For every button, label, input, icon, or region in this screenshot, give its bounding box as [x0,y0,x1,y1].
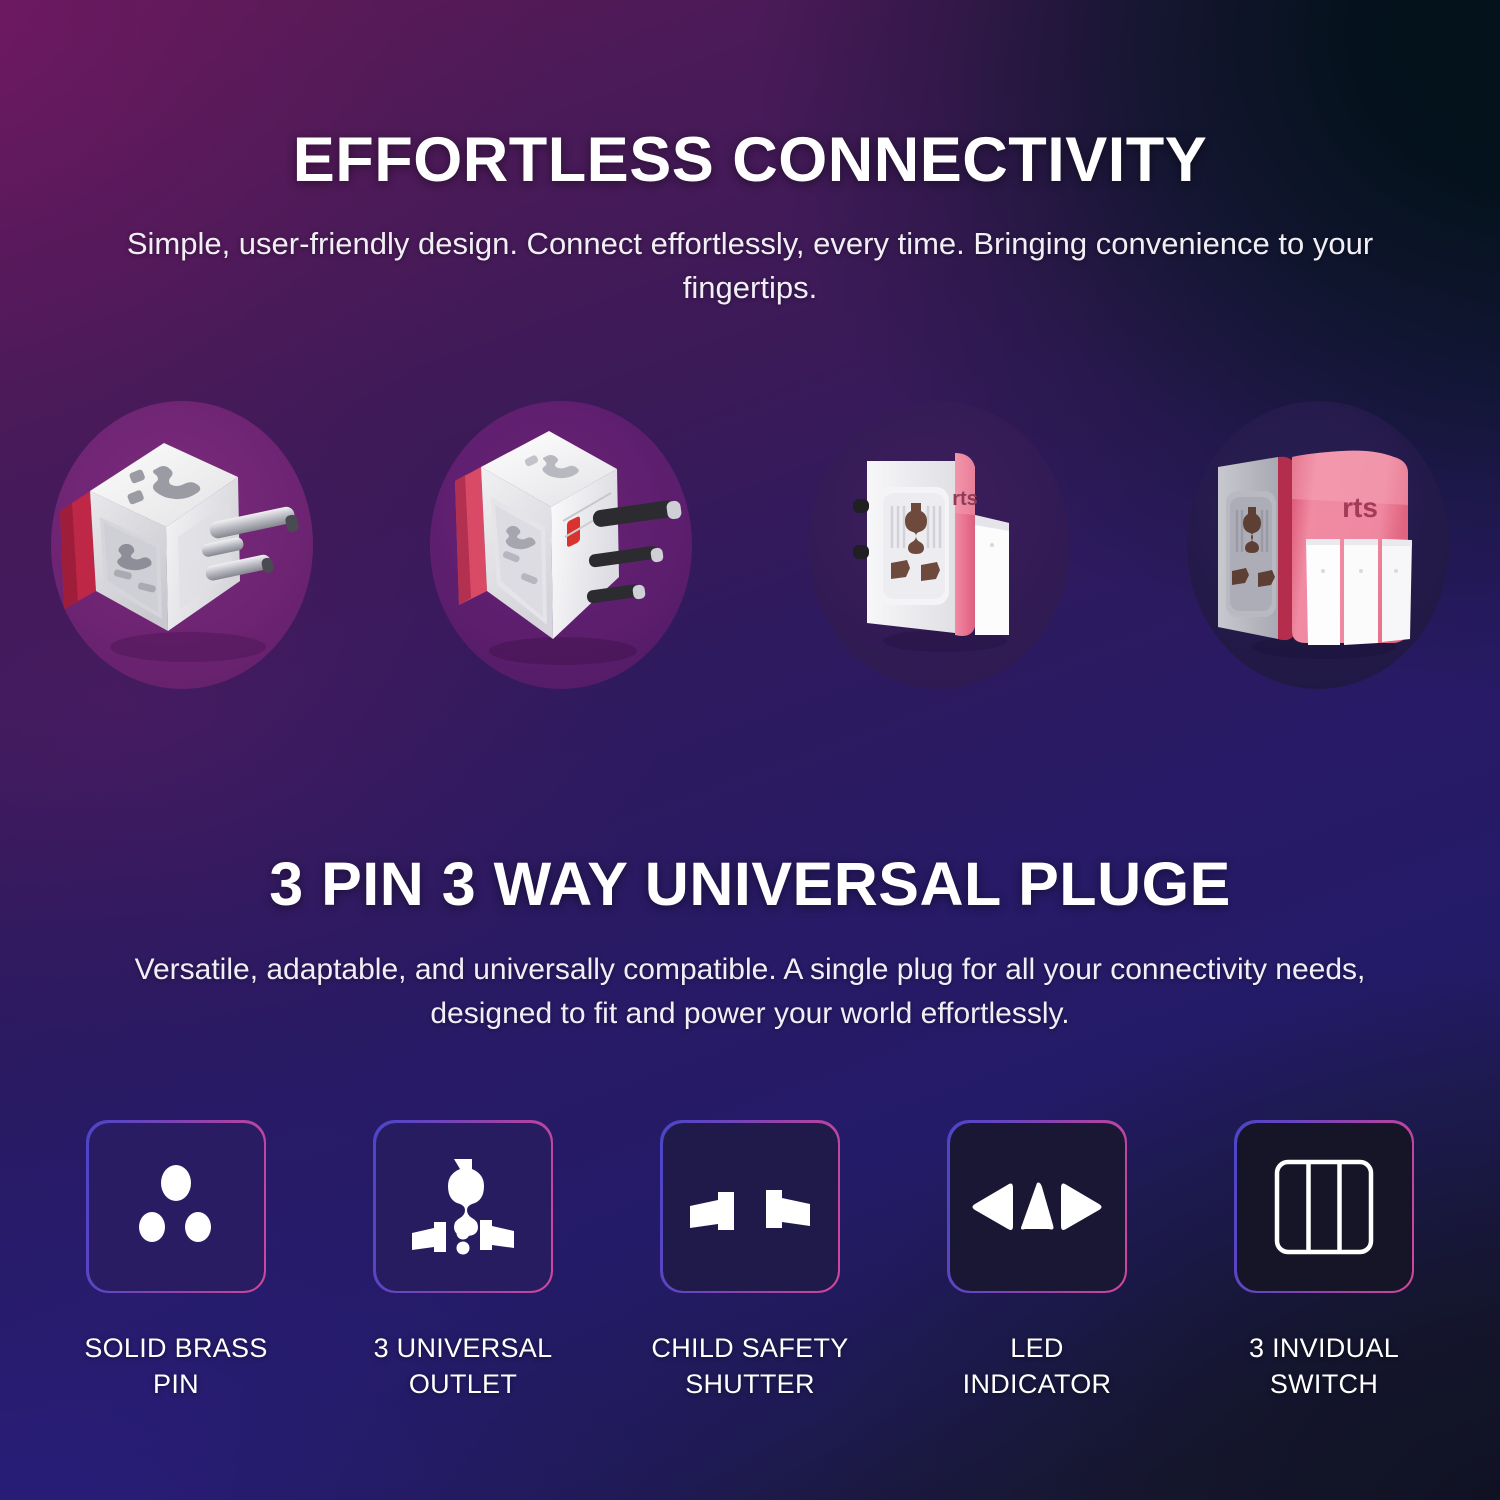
brand-logo-rts-3: rts [953,488,979,510]
universal-outlet-icon [404,1151,522,1263]
feature-item-child-safety-shutter[interactable]: CHILD SAFETY SHUTTER [626,1120,874,1450]
product-image-2 [417,395,705,695]
safety-shutter-icon [684,1172,816,1288]
product-card-1 [38,395,326,695]
feature-label-1: SOLID BRASS PIN [84,1331,267,1403]
feature-card-3 [660,1120,840,1293]
arrow-up-icon [1021,1182,1054,1229]
product-image-4: rts [1174,395,1462,695]
switch-group-4 [1306,539,1412,645]
feature-label-4: LED INDICATOR [963,1331,1112,1403]
section-subtitle: Versatile, adaptable, and universally co… [88,948,1412,1035]
three-gang-switch-icon [1272,1157,1376,1257]
feature-card-1 [86,1120,266,1293]
arrow-left-icon [973,1183,1014,1230]
feature-item-solid-brass-pin[interactable]: SOLID BRASS PIN [52,1120,300,1450]
feature-label-5: 3 INVIDUAL SWITCH [1249,1331,1399,1403]
product-card-3: rts [795,395,1083,695]
product-image-1 [38,395,326,695]
feature-card-4 [947,1120,1127,1293]
infographic-page: EFFORTLESS CONNECTIVITY Simple, user-fri… [0,0,1500,1500]
feature-card-5 [1234,1120,1414,1293]
feature-card-2 [373,1120,553,1293]
led-arrows-icon [969,1180,1105,1234]
product-image-row: rts [0,395,1500,695]
product-card-4: rts [1174,395,1462,695]
feature-label-2: 3 UNIVERSAL OUTLET [374,1331,553,1403]
section-title: 3 PIN 3 WAY UNIVERSAL PLUGE [0,849,1500,919]
hero-subtitle: Simple, user-friendly design. Connect ef… [120,222,1380,310]
three-pin-socket-icon [124,1155,228,1259]
feature-item-universal-outlet[interactable]: 3 UNIVERSAL OUTLET [339,1120,587,1450]
product-card-2 [417,395,705,695]
brand-logo-rts-4: rts [1342,492,1378,523]
feature-row: SOLID BRASS PIN [0,1120,1500,1450]
feature-label-3: CHILD SAFETY SHUTTER [651,1331,848,1403]
feature-item-led-indicator[interactable]: LED INDICATOR [913,1120,1161,1450]
arrow-right-icon [1061,1183,1102,1230]
hero-title: EFFORTLESS CONNECTIVITY [0,124,1500,196]
feature-item-three-individual-switch[interactable]: 3 INVIDUAL SWITCH [1200,1120,1448,1450]
product-image-3: rts [795,395,1083,695]
